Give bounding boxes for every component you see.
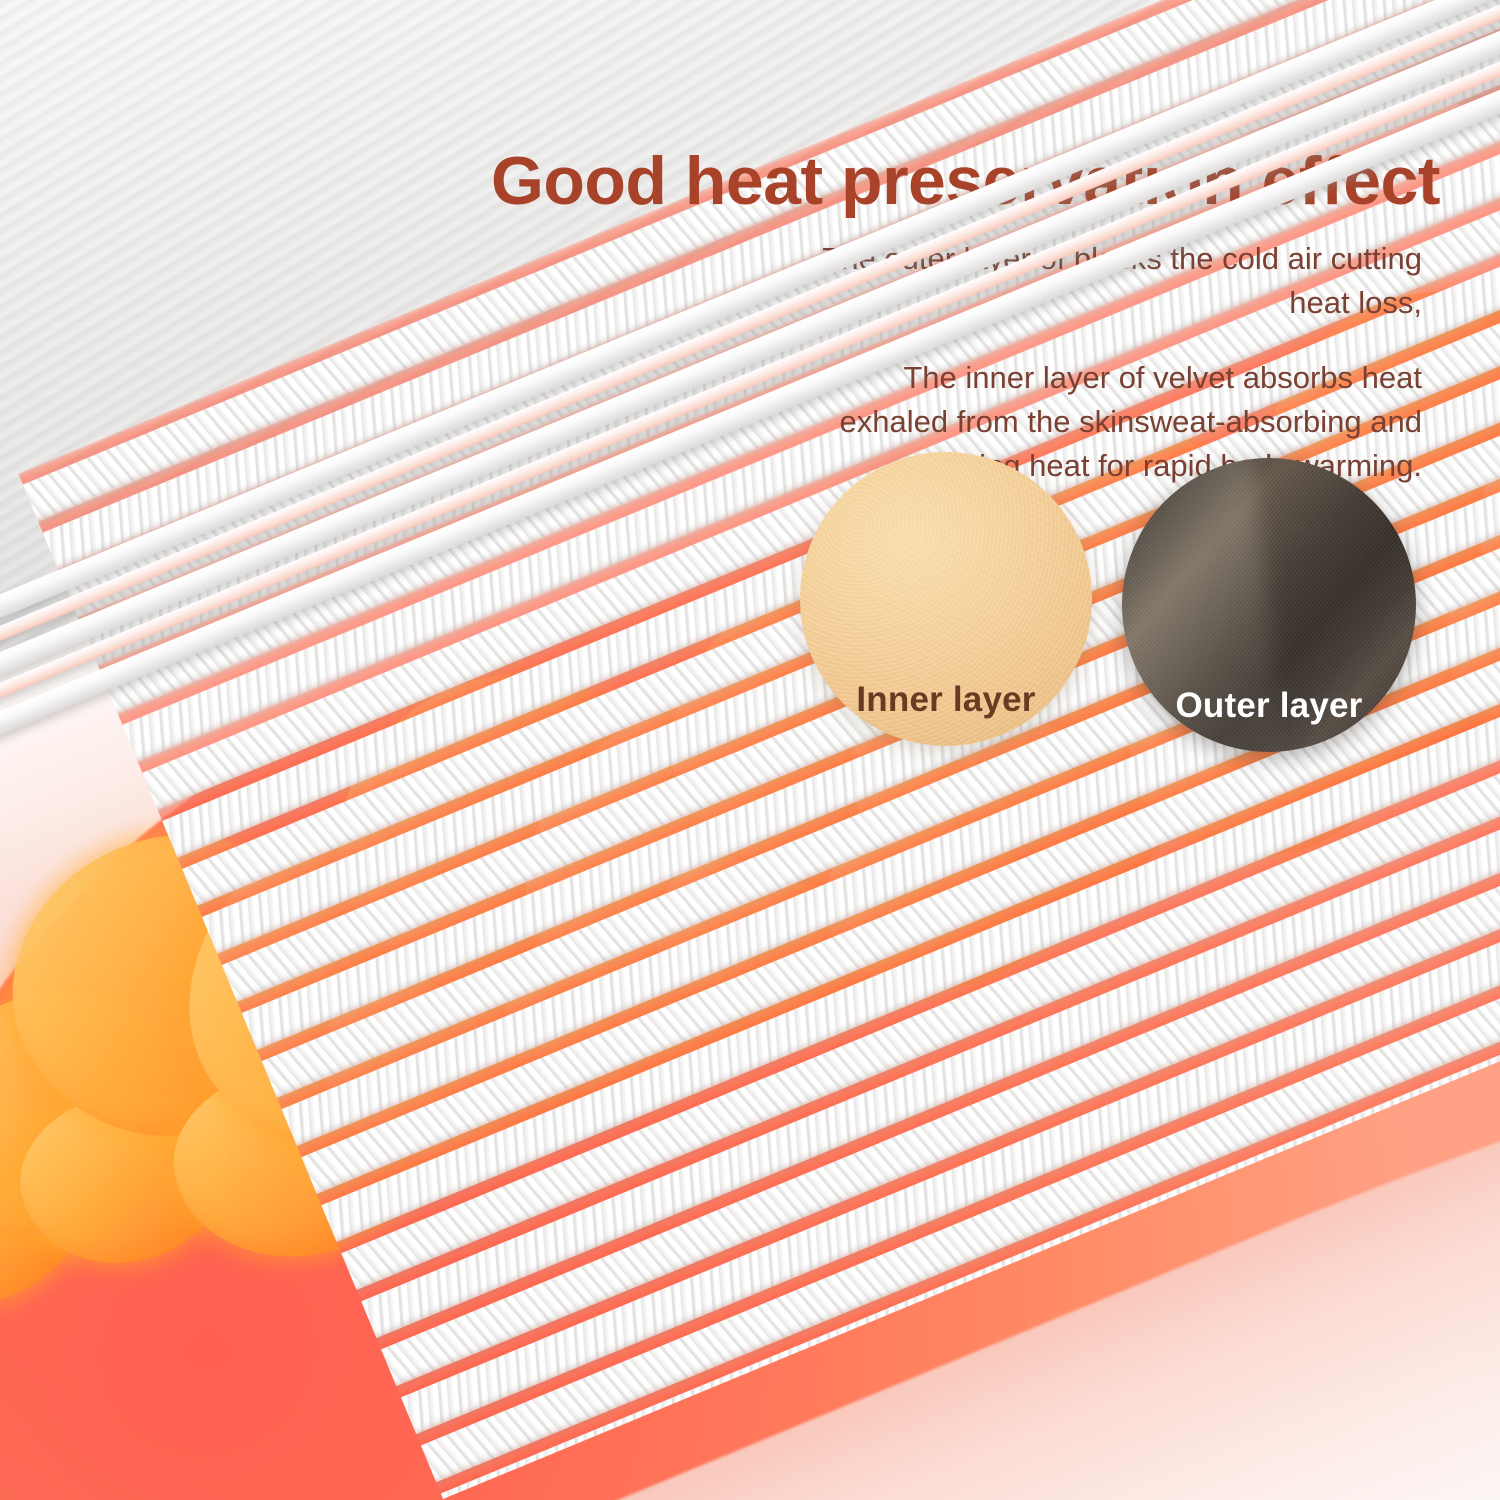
swatch-outer-layer: Outer layer xyxy=(1122,458,1416,752)
product-feature-graphic: Good heat preservation effect The outer … xyxy=(0,0,1500,1500)
swatch-inner-layer-label: Inner layer xyxy=(856,680,1035,720)
content-layer: Good heat preservation effect The outer … xyxy=(0,0,1500,1500)
swatch-inner-layer: Inner layer xyxy=(800,452,1092,746)
swatch-outer-layer-label: Outer layer xyxy=(1175,686,1362,726)
